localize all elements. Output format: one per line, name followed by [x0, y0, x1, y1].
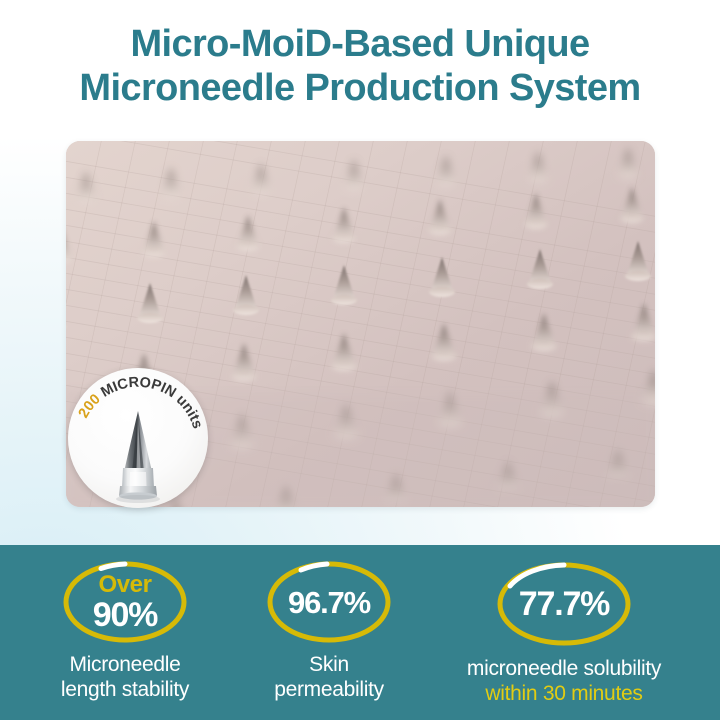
stat-1-caption-line-1: Microneedle — [69, 653, 180, 676]
stat-1-ring: Over 90% — [61, 559, 189, 645]
stat-3-ring: 77.7% — [494, 559, 634, 649]
badge-graphic: 200 MICROPIN units — [68, 368, 208, 508]
stat-2-value-group: 96.7% — [265, 559, 393, 645]
title-line-1: Micro-MoiD-Based Unique — [0, 22, 720, 66]
stat-3-caption: microneedle solubility within 30 minutes — [467, 656, 661, 706]
stats-band: Over 90% Microneedle length stability — [0, 545, 720, 720]
stat-skin-permeability: 96.7% Skin permeability — [239, 545, 419, 702]
stat-1-caption: Microneedle length stability — [61, 652, 189, 702]
stat-2-caption: Skin permeability — [274, 652, 384, 702]
needle-tip-icon — [116, 411, 160, 503]
infographic-page: Micro-MoiD-Based Unique Microneedle Prod… — [0, 0, 720, 720]
stat-3-caption-line-1: microneedle solubility — [467, 657, 661, 680]
badge-label: MICROPIN units — [94, 375, 206, 431]
stat-2-caption-line-1: Skin — [309, 653, 349, 676]
page-title: Micro-MoiD-Based Unique Microneedle Prod… — [0, 22, 720, 110]
stat-microneedle-solubility: 77.7% microneedle solubility within 30 m… — [419, 545, 709, 706]
stats-row: Over 90% Microneedle length stability — [0, 545, 720, 720]
stat-1-caption-line-2: length stability — [61, 678, 189, 701]
stat-1-prefix: Over — [98, 573, 151, 597]
stat-2-caption-line-2: permeability — [274, 678, 384, 701]
stat-1-value-group: Over 90% — [61, 559, 189, 645]
stat-2-value: 96.7% — [288, 587, 370, 618]
title-line-2: Microneedle Production System — [0, 66, 720, 110]
stat-microneedle-length-stability: Over 90% Microneedle length stability — [11, 545, 239, 702]
stat-3-value-group: 77.7% — [494, 559, 634, 649]
stat-1-value: 90% — [93, 598, 157, 632]
stat-3-caption-line-2: within 30 minutes — [467, 681, 661, 706]
stat-3-value: 77.7% — [519, 587, 609, 621]
stat-2-ring: 96.7% — [265, 559, 393, 645]
micropin-units-badge: 200 MICROPIN units — [68, 368, 208, 508]
